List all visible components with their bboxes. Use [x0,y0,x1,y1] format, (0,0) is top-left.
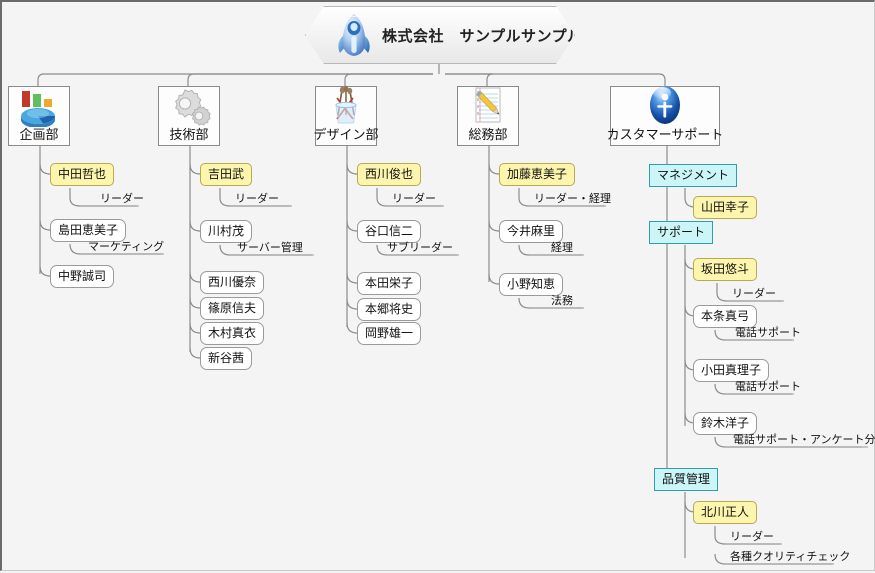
person-node-nakata[interactable]: 中田哲也 [50,163,114,186]
person-name: 吉田武 [208,167,244,181]
role-label-sakata: リーダー [729,288,779,302]
root-title: 株式会社 サンプルサンプル [382,25,583,46]
group-node-support[interactable]: サポート [649,221,713,244]
dept-label-design: デザイン部 [314,127,379,143]
person-name: 北川正人 [701,505,749,519]
root-hexagon: 株式会社 サンプルサンプル [305,6,575,64]
person-node-shinohara[interactable]: 篠原信夫 [200,297,264,320]
person-name: 小野知恵 [507,277,555,291]
dept-label-gijutsu: 技術部 [169,127,208,143]
person-name: 山田幸子 [701,200,749,214]
person-orb-icon [611,83,719,127]
org-chart-canvas: 株式会社 サンプルサンプル 企画部 [0,0,875,571]
dept-label-support: カスタマーサポート [607,127,724,143]
role-label-shimada: マーケティング [85,241,167,255]
role-label-ono: 法務 [548,295,576,309]
person-name: 加藤恵美子 [507,167,567,181]
person-node-kawamura[interactable]: 川村茂 [200,220,252,243]
dept-box-soumu[interactable]: 総務部 [457,86,519,146]
dept-box-gijutsu[interactable]: 技術部 [158,86,220,146]
person-node-katou[interactable]: 加藤恵美子 [499,163,575,186]
person-name: 木村真衣 [208,326,256,340]
person-name: 新谷茜 [208,351,244,365]
person-node-kimura[interactable]: 木村真衣 [200,322,264,345]
bar-pie-chart-icon [9,87,69,127]
dept-box-kikaku[interactable]: 企画部 [8,86,70,146]
group-node-quality[interactable]: 品質管理 [654,468,718,491]
paintbrush-cup-icon [316,85,376,127]
person-name: 篠原信夫 [208,301,256,315]
person-name: 鈴木洋子 [701,416,749,430]
person-node-yoshida[interactable]: 吉田武 [200,163,252,186]
person-node-sakata[interactable]: 坂田悠斗 [693,258,757,281]
person-node-yamada[interactable]: 山田幸子 [693,196,757,219]
person-name: 今井麻里 [507,224,555,238]
person-node-shimada[interactable]: 島田恵美子 [50,219,126,242]
role-label-imai: 経理 [548,242,576,256]
notepad-pencil-icon [458,85,518,127]
person-node-honjou[interactable]: 本条真弓 [693,305,757,328]
role-label-kawamura: サーバー管理 [234,242,306,256]
person-node-taniguchi[interactable]: 谷口信二 [357,220,421,243]
role-label-kitagawa-2: 各種クオリティチェック [727,551,853,565]
person-name: 川村茂 [208,224,244,238]
person-name: 本田栄子 [365,276,413,290]
person-node-nishikawa-toshiya[interactable]: 西川俊也 [357,163,421,186]
person-node-oda[interactable]: 小田真理子 [693,359,769,382]
person-name: 西川俊也 [365,167,413,181]
person-node-ono[interactable]: 小野知恵 [499,273,563,296]
person-node-hongou[interactable]: 本郷将史 [357,298,421,321]
role-label-yoshida: リーダー [232,193,282,207]
person-node-nakano[interactable]: 中野誠司 [50,265,114,288]
role-label-katou: リーダー・経理 [531,193,614,207]
group-name: マネジメント [657,168,729,182]
role-label-oda: 電話サポート [732,381,804,395]
person-node-honda[interactable]: 本田栄子 [357,272,421,295]
gears-icon [159,87,219,127]
dept-label-kikaku: 企画部 [19,127,58,143]
role-label-nakata: リーダー [97,193,147,207]
dept-label-soumu: 総務部 [468,127,507,143]
person-node-suzuki[interactable]: 鈴木洋子 [693,412,757,435]
person-name: 西川優奈 [208,275,256,289]
person-node-shintani[interactable]: 新谷茜 [200,347,252,370]
role-label-suzuki: 電話サポート・アンケート分析 [730,434,875,448]
person-name: 小田真理子 [701,363,761,377]
person-name: 本郷将史 [365,302,413,316]
role-label-honjou: 電話サポート [732,327,804,341]
person-node-nishikawa-yuna[interactable]: 西川優奈 [200,271,264,294]
group-node-management[interactable]: マネジメント [649,164,737,187]
person-name: 坂田悠斗 [701,262,749,276]
person-node-imai[interactable]: 今井麻里 [499,220,563,243]
dept-box-support[interactable]: カスタマーサポート [610,86,720,146]
root-node[interactable]: 株式会社 サンプルサンプル [305,6,575,64]
role-label-nishikawa-toshiya: リーダー [389,193,439,207]
person-name: 島田恵美子 [58,223,118,237]
person-name: 谷口信二 [365,224,413,238]
person-name: 岡野雄一 [365,326,413,340]
person-name: 本条真弓 [701,309,749,323]
person-name: 中田哲也 [58,167,106,181]
role-label-taniguchi: サブリーダー [384,242,456,256]
rocket-icon [334,12,374,58]
dept-box-design[interactable]: デザイン部 [315,86,377,146]
person-name: 中野誠司 [58,269,106,283]
person-node-kitagawa[interactable]: 北川正人 [693,501,757,524]
group-name: 品質管理 [662,472,710,486]
person-node-okano[interactable]: 岡野雄一 [357,322,421,345]
role-label-kitagawa-1: リーダー [727,531,777,545]
group-name: サポート [657,225,705,239]
